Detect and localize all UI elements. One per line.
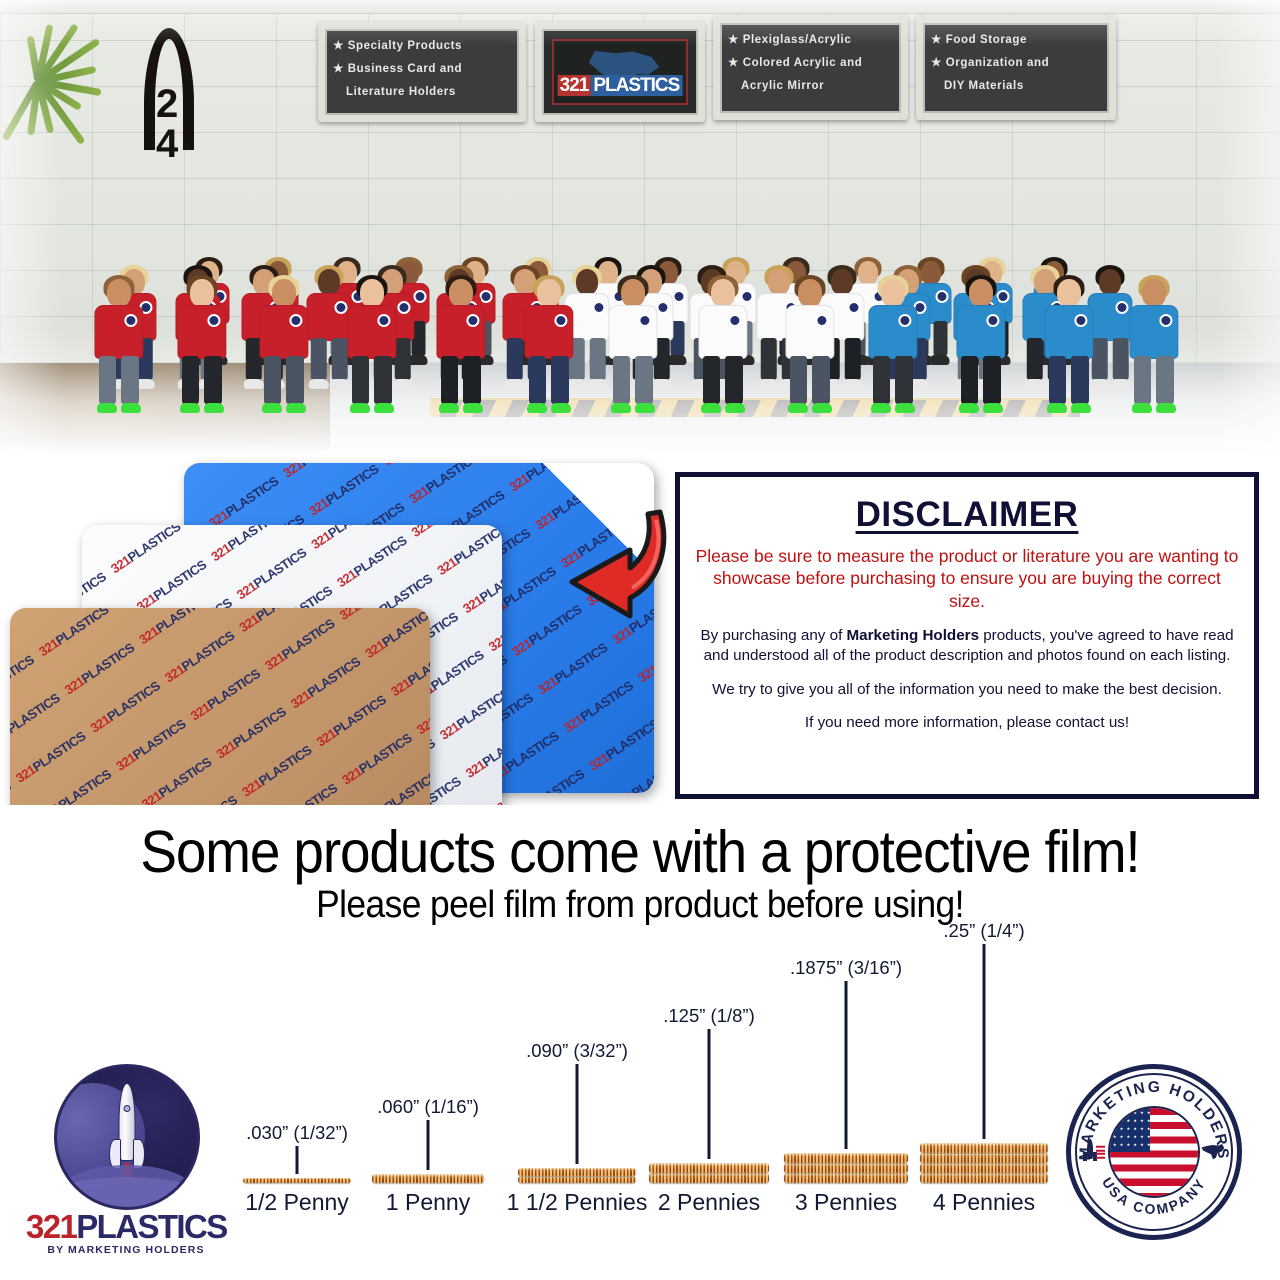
penny-category-label: 1/2 Penny [245,1189,349,1216]
window-line: ★ Food Storage [931,33,1101,47]
penny-stack [518,1168,636,1183]
penny-coin [920,1143,1048,1153]
penny-stack [920,1143,1048,1183]
window-line: ★ Specialty Products [333,39,511,53]
staff-member [255,277,313,381]
penny-leader-line [296,1146,299,1174]
disclaimer-paragraph-3: We try to give you all of the informatio… [694,680,1240,700]
penny-stack [243,1178,351,1183]
team-photo: 2 4 ★ Specialty Products ★ Business Card… [0,0,1280,455]
penny-leader-line [576,1064,579,1164]
disclaimer-title: DISCLAIMER [694,495,1240,535]
window-line: ★ Plexiglass/Acrylic [728,33,893,47]
logo-word: PLASTICS [76,1208,226,1245]
cloud-band [54,1177,200,1207]
disclaimer-box: DISCLAIMER Please be sure to measure the… [676,473,1258,798]
penny-category-label: 4 Pennies [933,1189,1035,1216]
staff-member [520,277,578,381]
disclaimer-red-paragraph: Please be sure to measure the product or… [694,545,1240,612]
palm-plant [2,18,92,228]
penny-chart-column: .125” (1/8”)2 Pennies [652,1182,767,1183]
penny-coin [784,1173,908,1183]
penny-coin [518,1176,636,1184]
sign-word: PLASTICS [590,75,682,96]
logo-tagline: BY MARKETING HOLDERS [26,1244,226,1256]
staff-member [604,277,662,381]
p2-brand: Marketing Holders [847,627,980,644]
staff-member [173,277,231,381]
penny-measurement-label: .125” (1/8”) [663,1005,755,1027]
penny-stack [372,1174,484,1183]
staff-member [1040,277,1098,381]
us-flag-icon [1108,1106,1200,1198]
address-numerals: 2 4 [120,28,216,158]
penny-coin [920,1163,1048,1173]
logo-wordmark: 321PLASTICS [26,1210,226,1243]
staff-member [343,277,401,381]
film-watermark: 321PLASTICS 321PLASTICS 321PLASTICS 321P… [10,608,430,805]
globe-rocket-emblem [54,1064,200,1210]
staff-member [952,277,1010,381]
penny-coin [649,1173,769,1183]
badge-accent-dots [1096,1146,1105,1159]
penny-measurement-label: .060” (1/16”) [377,1096,479,1118]
penny-measurement-label: .030” (1/32”) [246,1122,348,1144]
window-line: Acrylic Mirror [728,79,893,93]
penny-category-label: 2 Pennies [658,1189,760,1216]
penny-coin [372,1174,484,1183]
staff-member [90,277,148,381]
window-line: DIY Materials [931,79,1101,93]
penny-stack [784,1153,908,1183]
window-line: ★ Organization and [931,56,1101,70]
roofline [0,0,1280,14]
penny-coin [243,1178,351,1183]
staff-member [694,277,752,381]
penny-leader-line [845,981,848,1149]
staff-member [432,277,490,381]
window-line: ★ Business Card and [333,62,511,76]
p2-before: By purchasing any of [700,627,846,644]
penny-chart-column: .060” (1/16”)1 Penny [373,1182,483,1183]
penny-chart-column: .25” (1/4”)4 Pennies [927,1182,1042,1183]
penny-coin [649,1163,769,1173]
staff-member [1125,277,1183,381]
penny-measurement-label: .090” (3/32”) [526,1040,628,1062]
staff-member [781,277,839,381]
window-line: Literature Holders [333,85,511,99]
penny-measurement-label: .1875” (3/16”) [790,957,902,979]
logo-number: 321 [26,1208,76,1245]
penny-chart-column: .030” (1/32”)1/2 Penny [242,1182,352,1183]
window-sign-plexiglass: ★ Plexiglass/Acrylic ★ Colored Acrylic a… [713,16,908,120]
peel-arrow-icon [556,498,674,628]
penny-coin [518,1168,636,1176]
marketing-holders-badge: MARKETING HOLDERS USA COMPANY [1066,1064,1242,1240]
page-headline: Some products come with a protective fil… [45,818,1235,886]
penny-leader-line [427,1120,430,1170]
penny-category-label: 1 1/2 Pennies [507,1189,648,1216]
penny-coin [920,1153,1048,1163]
sign-number: 321 [558,75,591,96]
penny-coin [784,1153,908,1163]
kraft-acrylic-sheet: 321PLASTICS 321PLASTICS 321PLASTICS 321P… [10,608,430,805]
window-line: ★ Colored Acrylic and [728,56,893,70]
penny-category-label: 3 Pennies [795,1189,897,1216]
penny-category-label: 1 Penny [386,1189,470,1216]
penny-coin [920,1173,1048,1183]
penny-measurement-label: .25” (1/4”) [943,920,1024,942]
penny-coin [784,1163,908,1173]
window-sign-brand: 321PLASTICS [535,22,705,122]
penny-chart-column: .1875” (3/16”)3 Pennies [789,1182,904,1183]
disclaimer-paragraph-4: If you need more information, please con… [694,713,1240,733]
penny-leader-line [983,944,986,1139]
penny-chart-column: .090” (3/32”)1 1/2 Pennies [512,1182,642,1183]
staff-member [864,277,922,381]
penny-leader-line [708,1029,711,1159]
penny-stack [649,1163,769,1183]
window-sign-specialty: ★ Specialty Products ★ Business Card and… [318,22,526,122]
window-sign-food-storage: ★ Food Storage ★ Organization and DIY Ma… [916,16,1116,120]
disclaimer-paragraph-2: By purchasing any of Marketing Holders p… [694,626,1240,666]
page-subheadline: Please peel film from product before usi… [45,884,1235,927]
logo-321plastics: 321PLASTICS BY MARKETING HOLDERS [26,1064,226,1244]
storefront-321plastics-sign: 321PLASTICS [558,75,683,97]
